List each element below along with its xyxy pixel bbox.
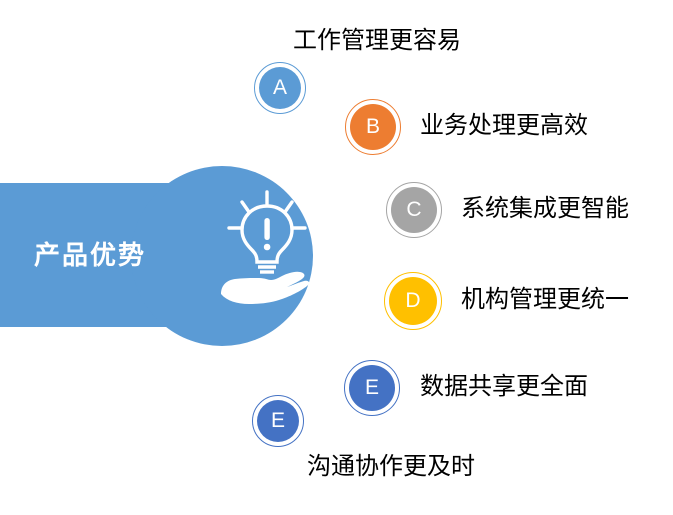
node-label-d: 机构管理更统一 — [461, 285, 629, 315]
banner-title: 产品优势 — [34, 238, 204, 272]
node-circle-c[interactable]: C — [386, 182, 442, 238]
node-letter-c: C — [406, 199, 421, 220]
node-letter-f: E — [271, 410, 285, 431]
node-disc-b: B — [350, 104, 396, 150]
node-letter-b: B — [366, 116, 380, 137]
node-disc-c: C — [391, 187, 437, 233]
product-advantage-banner: 产品优势 — [0, 160, 330, 350]
node-label-c: 系统集成更智能 — [461, 194, 629, 224]
node-label-f: 沟通协作更及时 — [307, 452, 475, 482]
node-disc-f: E — [257, 400, 299, 442]
node-letter-a: A — [273, 77, 287, 98]
node-letter-d: D — [405, 290, 420, 311]
node-circle-f[interactable]: E — [252, 395, 304, 447]
diagram-canvas: 产品优势 — [0, 0, 673, 515]
node-label-b: 业务处理更高效 — [420, 111, 588, 141]
node-letter-e: E — [365, 377, 379, 398]
node-disc-e: E — [349, 365, 395, 411]
node-label-e: 数据共享更全面 — [420, 372, 588, 402]
node-circle-b[interactable]: B — [345, 99, 401, 155]
lightbulb-in-hand-icon — [215, 186, 319, 306]
node-circle-a[interactable]: A — [254, 62, 306, 114]
node-circle-d[interactable]: D — [384, 272, 442, 330]
node-disc-a: A — [259, 67, 301, 109]
node-label-a: 工作管理更容易 — [293, 26, 461, 56]
node-circle-e[interactable]: E — [344, 360, 400, 416]
node-disc-d: D — [389, 277, 437, 325]
